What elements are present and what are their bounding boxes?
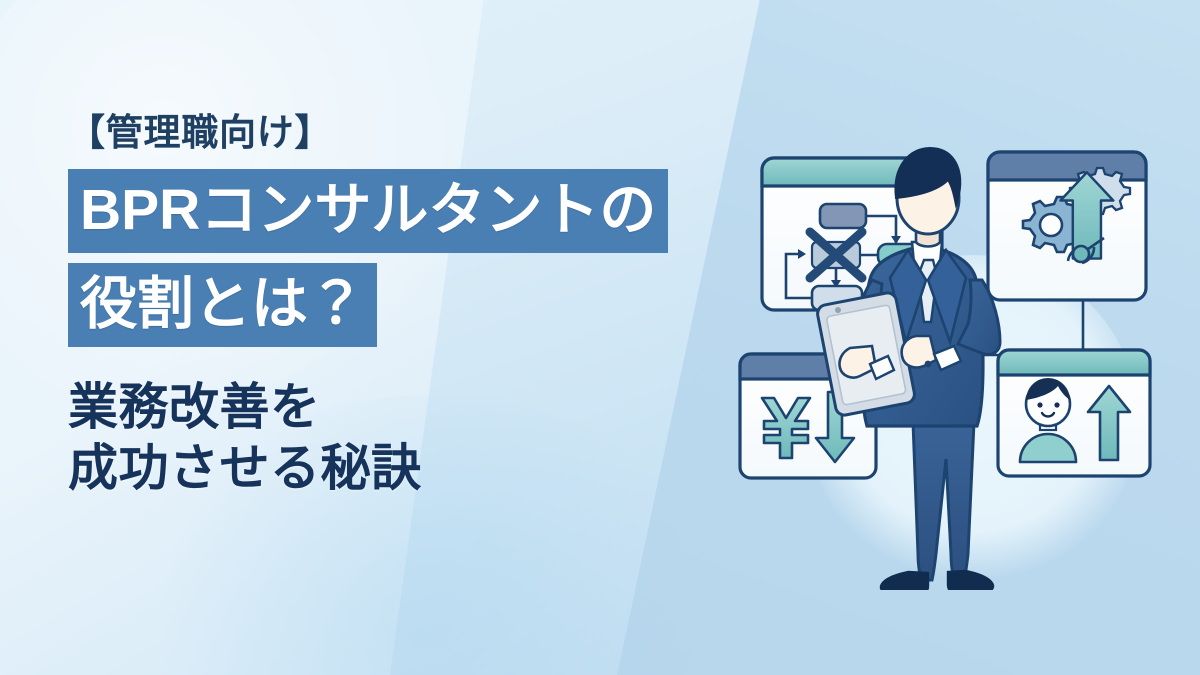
shoe-left xyxy=(881,572,928,590)
audience-kicker: 【管理職向け】 xyxy=(68,112,788,155)
title-line-1: BPRコンサルタントの xyxy=(68,169,668,253)
slide-canvas: 【管理職向け】 BPRコンサルタントの 役割とは？ 業務改善を 成功させる秘訣 xyxy=(0,0,1200,675)
efficiency-card xyxy=(988,152,1146,300)
shoe-right xyxy=(948,571,993,590)
title-line-2: 役割とは？ xyxy=(68,263,377,347)
page-title: BPRコンサルタントの 役割とは？ xyxy=(68,169,788,347)
headline-block: 【管理職向け】 BPRコンサルタントの 役割とは？ 業務改善を 成功させる秘訣 xyxy=(68,112,788,499)
subtitle: 業務改善を 成功させる秘訣 xyxy=(68,377,788,499)
employee-satisfaction-card xyxy=(998,350,1150,476)
subtitle-line-2: 成功させる秘訣 xyxy=(68,438,788,499)
subtitle-line-1: 業務改善を xyxy=(68,377,788,438)
hero-illustration xyxy=(700,120,1200,590)
illustration-svg xyxy=(700,120,1200,590)
